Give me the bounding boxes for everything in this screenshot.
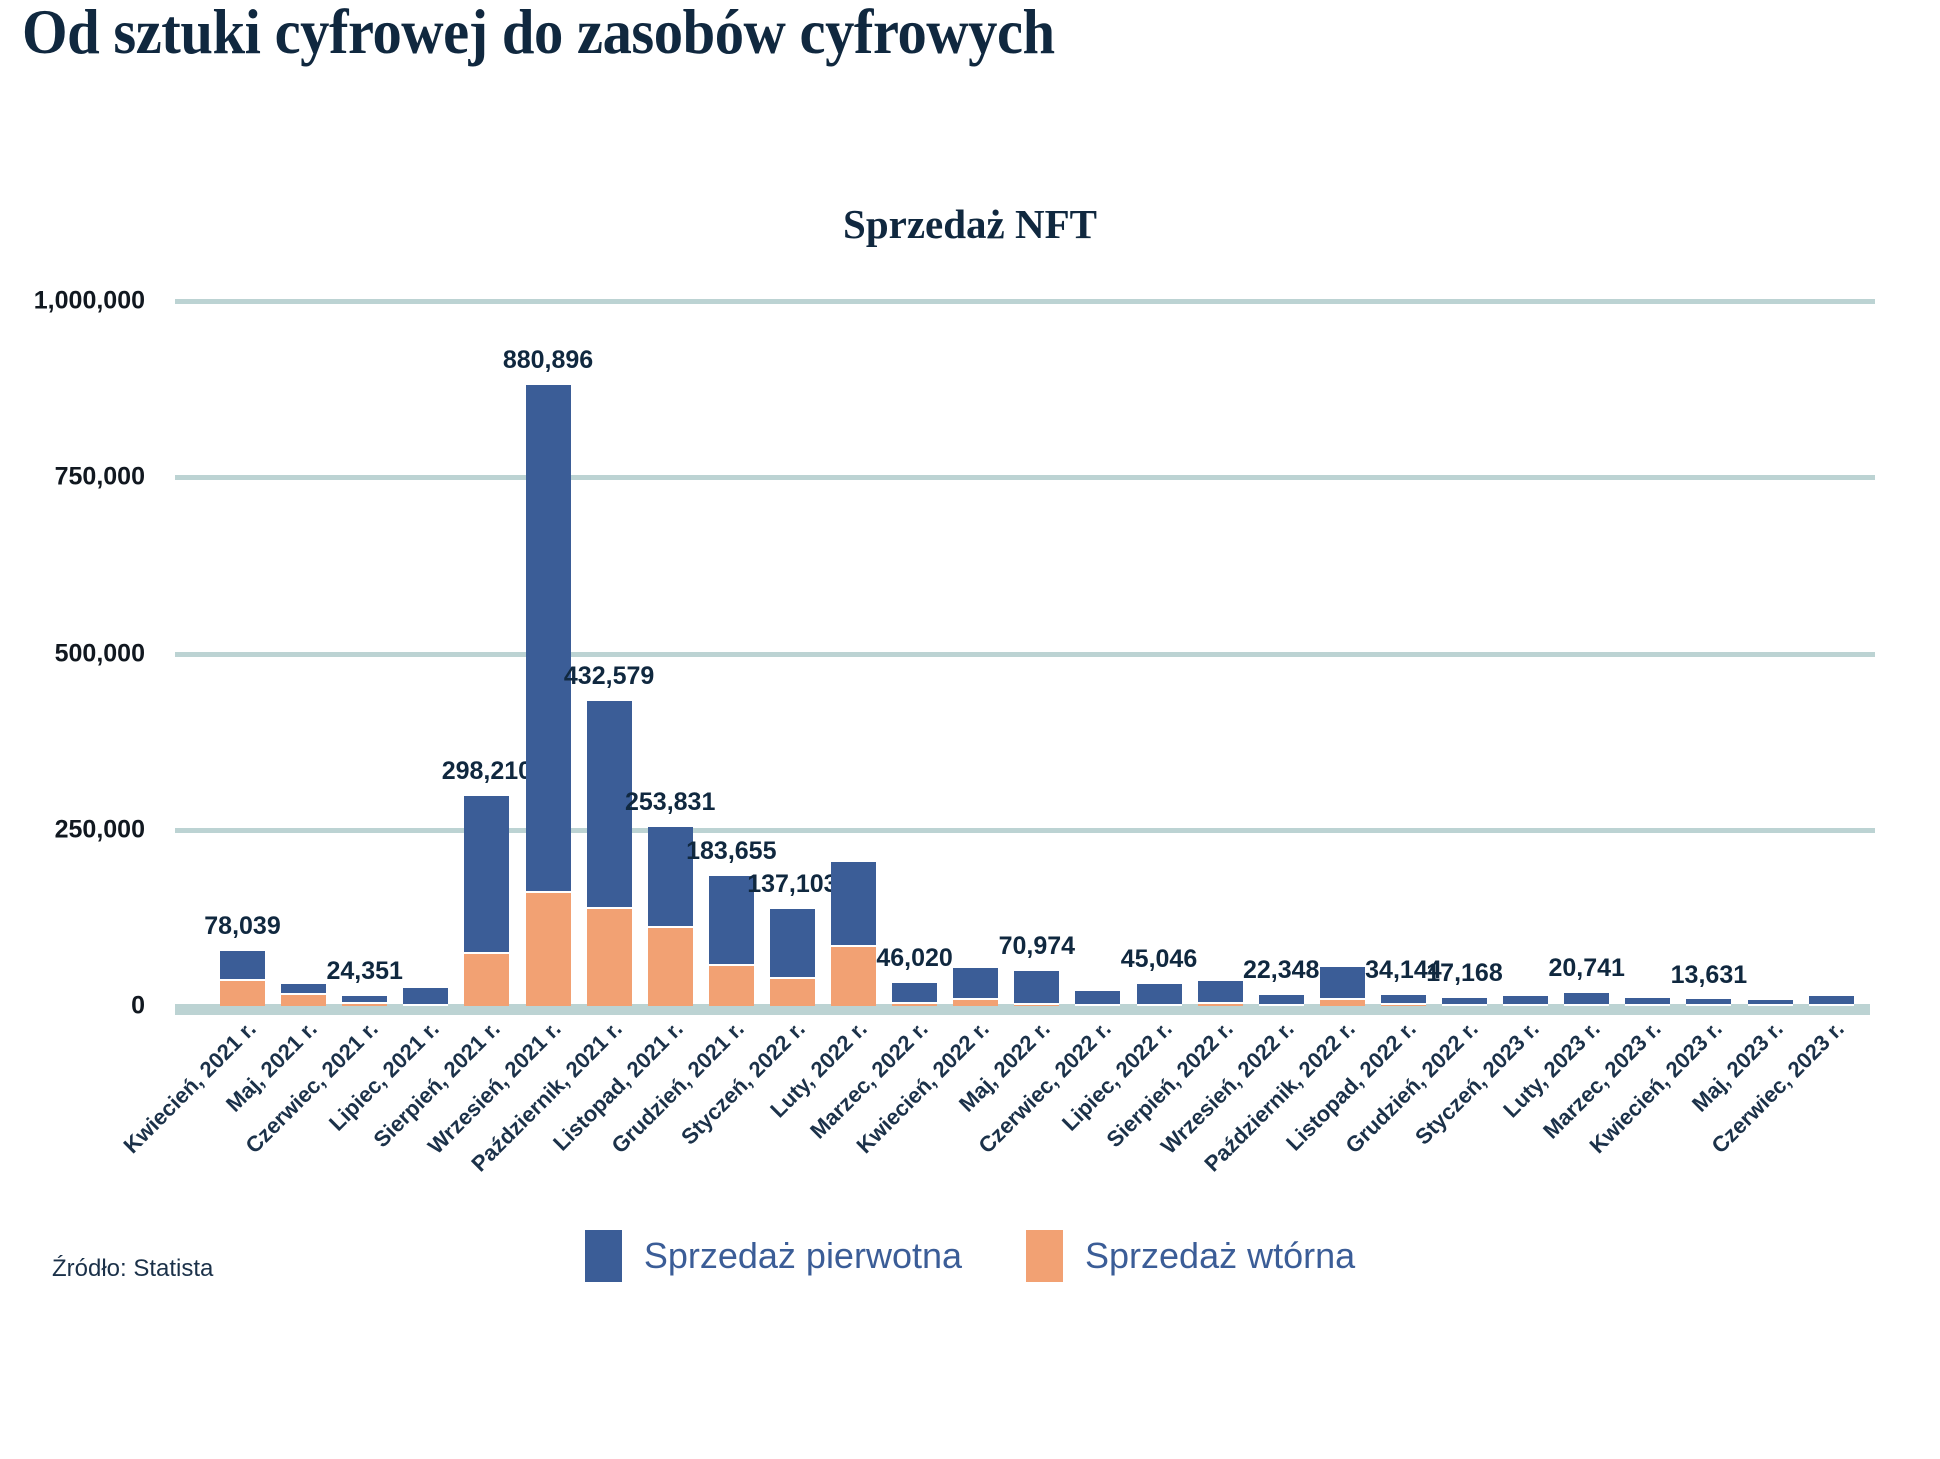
bar-group[interactable] [1809, 996, 1854, 1006]
bar-group[interactable]: 46,020 [892, 983, 937, 1006]
bar-segment-secondary[interactable] [1809, 1004, 1854, 1006]
bar-value-label: 432,579 [564, 662, 654, 691]
bar-segment-primary[interactable] [892, 983, 937, 1001]
legend-item[interactable]: Sprzedaż wtórna [1026, 1230, 1355, 1282]
chart-area: Sprzedaż NFT 0250,000500,000750,0001,000… [0, 0, 1940, 1397]
bar-segment-secondary[interactable] [281, 993, 326, 1006]
bar-group[interactable] [1625, 998, 1670, 1006]
bar-value-label: 253,831 [625, 788, 715, 817]
bar-segment-secondary[interactable] [953, 998, 998, 1006]
bar-segment-primary[interactable] [1381, 995, 1426, 1003]
bar-value-label: 78,039 [204, 912, 280, 941]
bar-segment-primary[interactable] [1320, 967, 1365, 998]
bar-segment-secondary[interactable] [464, 952, 509, 1006]
bar-segment-primary[interactable] [1075, 991, 1120, 1004]
legend-swatch-icon [1026, 1230, 1063, 1282]
bar-segment-secondary[interactable] [1686, 1004, 1731, 1006]
bar-segment-secondary[interactable] [526, 891, 571, 1006]
bar-group[interactable] [1320, 967, 1365, 1006]
bar-group[interactable] [403, 988, 448, 1006]
bar-segment-secondary[interactable] [1075, 1004, 1120, 1006]
bar-segment-secondary[interactable] [403, 1004, 448, 1006]
bar-value-label: 298,210 [442, 757, 532, 786]
bar-value-label: 24,351 [326, 957, 402, 986]
bar-segment-primary[interactable] [1259, 995, 1304, 1004]
bar-segment-primary[interactable] [1198, 981, 1243, 1002]
bar-group[interactable]: 432,579 [587, 701, 632, 1006]
bar-segment-secondary[interactable] [709, 964, 754, 1006]
bar-segment-secondary[interactable] [892, 1002, 937, 1006]
bar-group[interactable] [281, 984, 326, 1006]
bar-segment-primary[interactable] [220, 951, 265, 979]
bar-group[interactable]: 20,741 [1564, 993, 1609, 1006]
bar-group[interactable]: 45,046 [1137, 984, 1182, 1006]
bar-group[interactable]: 34,144 [1381, 995, 1426, 1006]
bar-segment-primary[interactable] [953, 968, 998, 998]
bar-segment-secondary[interactable] [831, 945, 876, 1006]
bar-segment-secondary[interactable] [1137, 1004, 1182, 1006]
bar-segment-secondary[interactable] [1014, 1003, 1059, 1006]
bar-value-label: 46,020 [876, 944, 952, 973]
bar-segment-secondary[interactable] [1748, 1004, 1793, 1006]
bar-group[interactable] [1198, 981, 1243, 1006]
bar-segment-secondary[interactable] [1320, 998, 1365, 1006]
bar-group[interactable] [1748, 1000, 1793, 1006]
bar-segment-secondary[interactable] [1259, 1004, 1304, 1006]
bar-group[interactable]: 24,351 [342, 996, 387, 1006]
bar-segment-primary[interactable] [526, 385, 571, 891]
source-note: Źródło: Statista [52, 1255, 213, 1283]
legend: Sprzedaż pierwotnaSprzedaż wtórna [0, 1230, 1940, 1282]
bar-group[interactable]: 880,896 [526, 385, 571, 1006]
bar-segment-primary[interactable] [281, 984, 326, 992]
legend-swatch-icon [585, 1230, 622, 1282]
bar-segment-secondary[interactable] [1198, 1002, 1243, 1006]
bar-segment-primary[interactable] [1809, 996, 1854, 1004]
bar-value-label: 45,046 [1121, 945, 1197, 974]
bar-segment-secondary[interactable] [1625, 1004, 1670, 1006]
bar-segment-primary[interactable] [831, 862, 876, 945]
legend-label: Sprzedaż wtórna [1085, 1235, 1355, 1277]
bar-value-label: 183,655 [686, 837, 776, 866]
bar-segment-secondary[interactable] [587, 907, 632, 1006]
bar-group[interactable]: 78,039 [220, 951, 265, 1006]
bar-group[interactable]: 70,974 [1014, 971, 1059, 1006]
bar-value-label: 17,168 [1426, 959, 1502, 988]
bar-segment-primary[interactable] [770, 909, 815, 977]
bar-value-label: 22,348 [1243, 956, 1319, 985]
bar-segment-secondary[interactable] [648, 926, 693, 1006]
bar-segment-primary[interactable] [1503, 996, 1548, 1004]
bar-group[interactable]: 17,168 [1442, 998, 1487, 1006]
bar-value-label: 70,974 [999, 932, 1075, 961]
bar-segment-secondary[interactable] [1564, 1004, 1609, 1006]
bar-segment-primary[interactable] [403, 988, 448, 1004]
bar-segment-secondary[interactable] [1381, 1003, 1426, 1006]
bar-value-label: 880,896 [503, 346, 593, 375]
bar-value-label: 20,741 [1548, 954, 1624, 983]
bar-group[interactable]: 22,348 [1259, 995, 1304, 1006]
bar-value-label: 137,103 [747, 870, 837, 899]
bar-segment-primary[interactable] [1564, 993, 1609, 1004]
bar-segment-secondary[interactable] [1442, 1004, 1487, 1006]
bar-group[interactable] [1503, 996, 1548, 1006]
legend-label: Sprzedaż pierwotna [644, 1235, 962, 1277]
bar-value-label: 13,631 [1671, 961, 1747, 990]
legend-item[interactable]: Sprzedaż pierwotna [585, 1230, 962, 1282]
bar-segment-secondary[interactable] [220, 979, 265, 1006]
bar-segment-primary[interactable] [1014, 971, 1059, 1003]
bar-group[interactable]: 298,210 [464, 796, 509, 1006]
bar-group[interactable] [1075, 991, 1120, 1006]
bar-group[interactable]: 137,103 [770, 909, 815, 1006]
bar-group[interactable] [953, 968, 998, 1006]
bar-group[interactable]: 13,631 [1686, 999, 1731, 1006]
bar-group[interactable] [831, 862, 876, 1006]
bar-segment-primary[interactable] [1137, 984, 1182, 1004]
bar-segment-secondary[interactable] [1503, 1004, 1548, 1006]
bar-segment-secondary[interactable] [342, 1002, 387, 1006]
bar-segment-secondary[interactable] [770, 977, 815, 1006]
bar-segment-primary[interactable] [464, 796, 509, 953]
